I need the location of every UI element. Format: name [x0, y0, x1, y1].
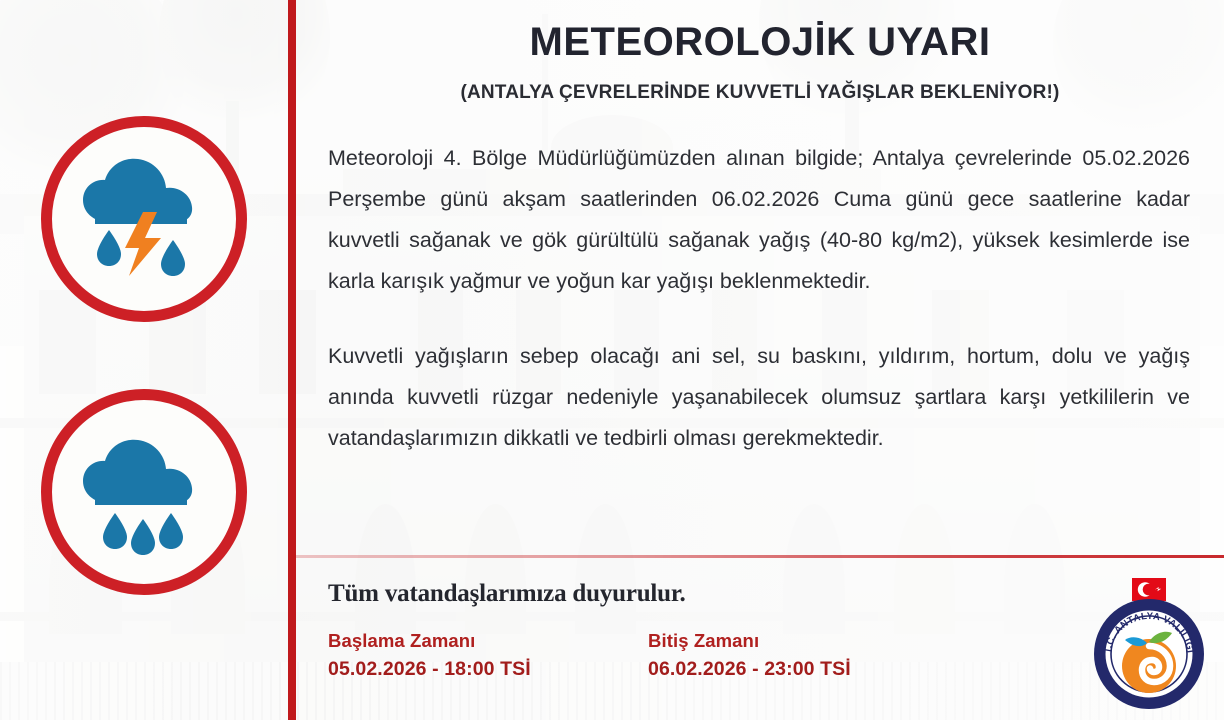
warning-icon-column — [0, 0, 288, 720]
end-time-label: Bitiş Zamanı — [648, 630, 851, 652]
start-time-block: Başlama Zamanı 05.02.2026 - 18:00 TSİ — [328, 630, 531, 681]
end-time-block: Bitiş Zamanı 06.02.2026 - 23:00 TSİ — [648, 630, 851, 681]
thunderstorm-warning-badge — [41, 116, 247, 322]
footer-divider-rule — [296, 555, 1224, 558]
vertical-red-divider — [288, 0, 296, 720]
thunderstorm-icon — [69, 144, 219, 294]
turkish-flag-icon — [1132, 578, 1166, 601]
start-time-label: Başlama Zamanı — [328, 630, 531, 652]
page-title: METEOROLOJİK UYARI — [296, 20, 1224, 65]
antalya-governorship-logo: T.C. ANTALYA VALİLİĞİ — [1088, 578, 1210, 714]
end-time-value: 06.02.2026 - 23:00 TSİ — [648, 658, 851, 681]
warning-body: Meteoroloji 4. Bölge Müdürlüğümüzden alı… — [328, 138, 1190, 459]
warning-paragraph-1: Meteoroloji 4. Bölge Müdürlüğümüzden alı… — [328, 138, 1190, 302]
rain-cloud-icon — [69, 417, 219, 567]
warning-content-panel: METEOROLOJİK UYARI (ANTALYA ÇEVRELERİNDE… — [296, 0, 1224, 720]
start-time-value: 05.02.2026 - 18:00 TSİ — [328, 658, 531, 681]
warning-paragraph-2: Kuvvetli yağışların sebep olacağı ani se… — [328, 336, 1190, 459]
meteorological-warning-poster: METEOROLOJİK UYARI (ANTALYA ÇEVRELERİNDE… — [0, 0, 1224, 720]
heavy-rain-warning-badge — [41, 389, 247, 595]
page-subtitle: (ANTALYA ÇEVRELERİNDE KUVVETLİ YAĞIŞLAR … — [296, 82, 1224, 104]
announcement-text: Tüm vatandaşlarımıza duyurulur. — [328, 580, 686, 608]
